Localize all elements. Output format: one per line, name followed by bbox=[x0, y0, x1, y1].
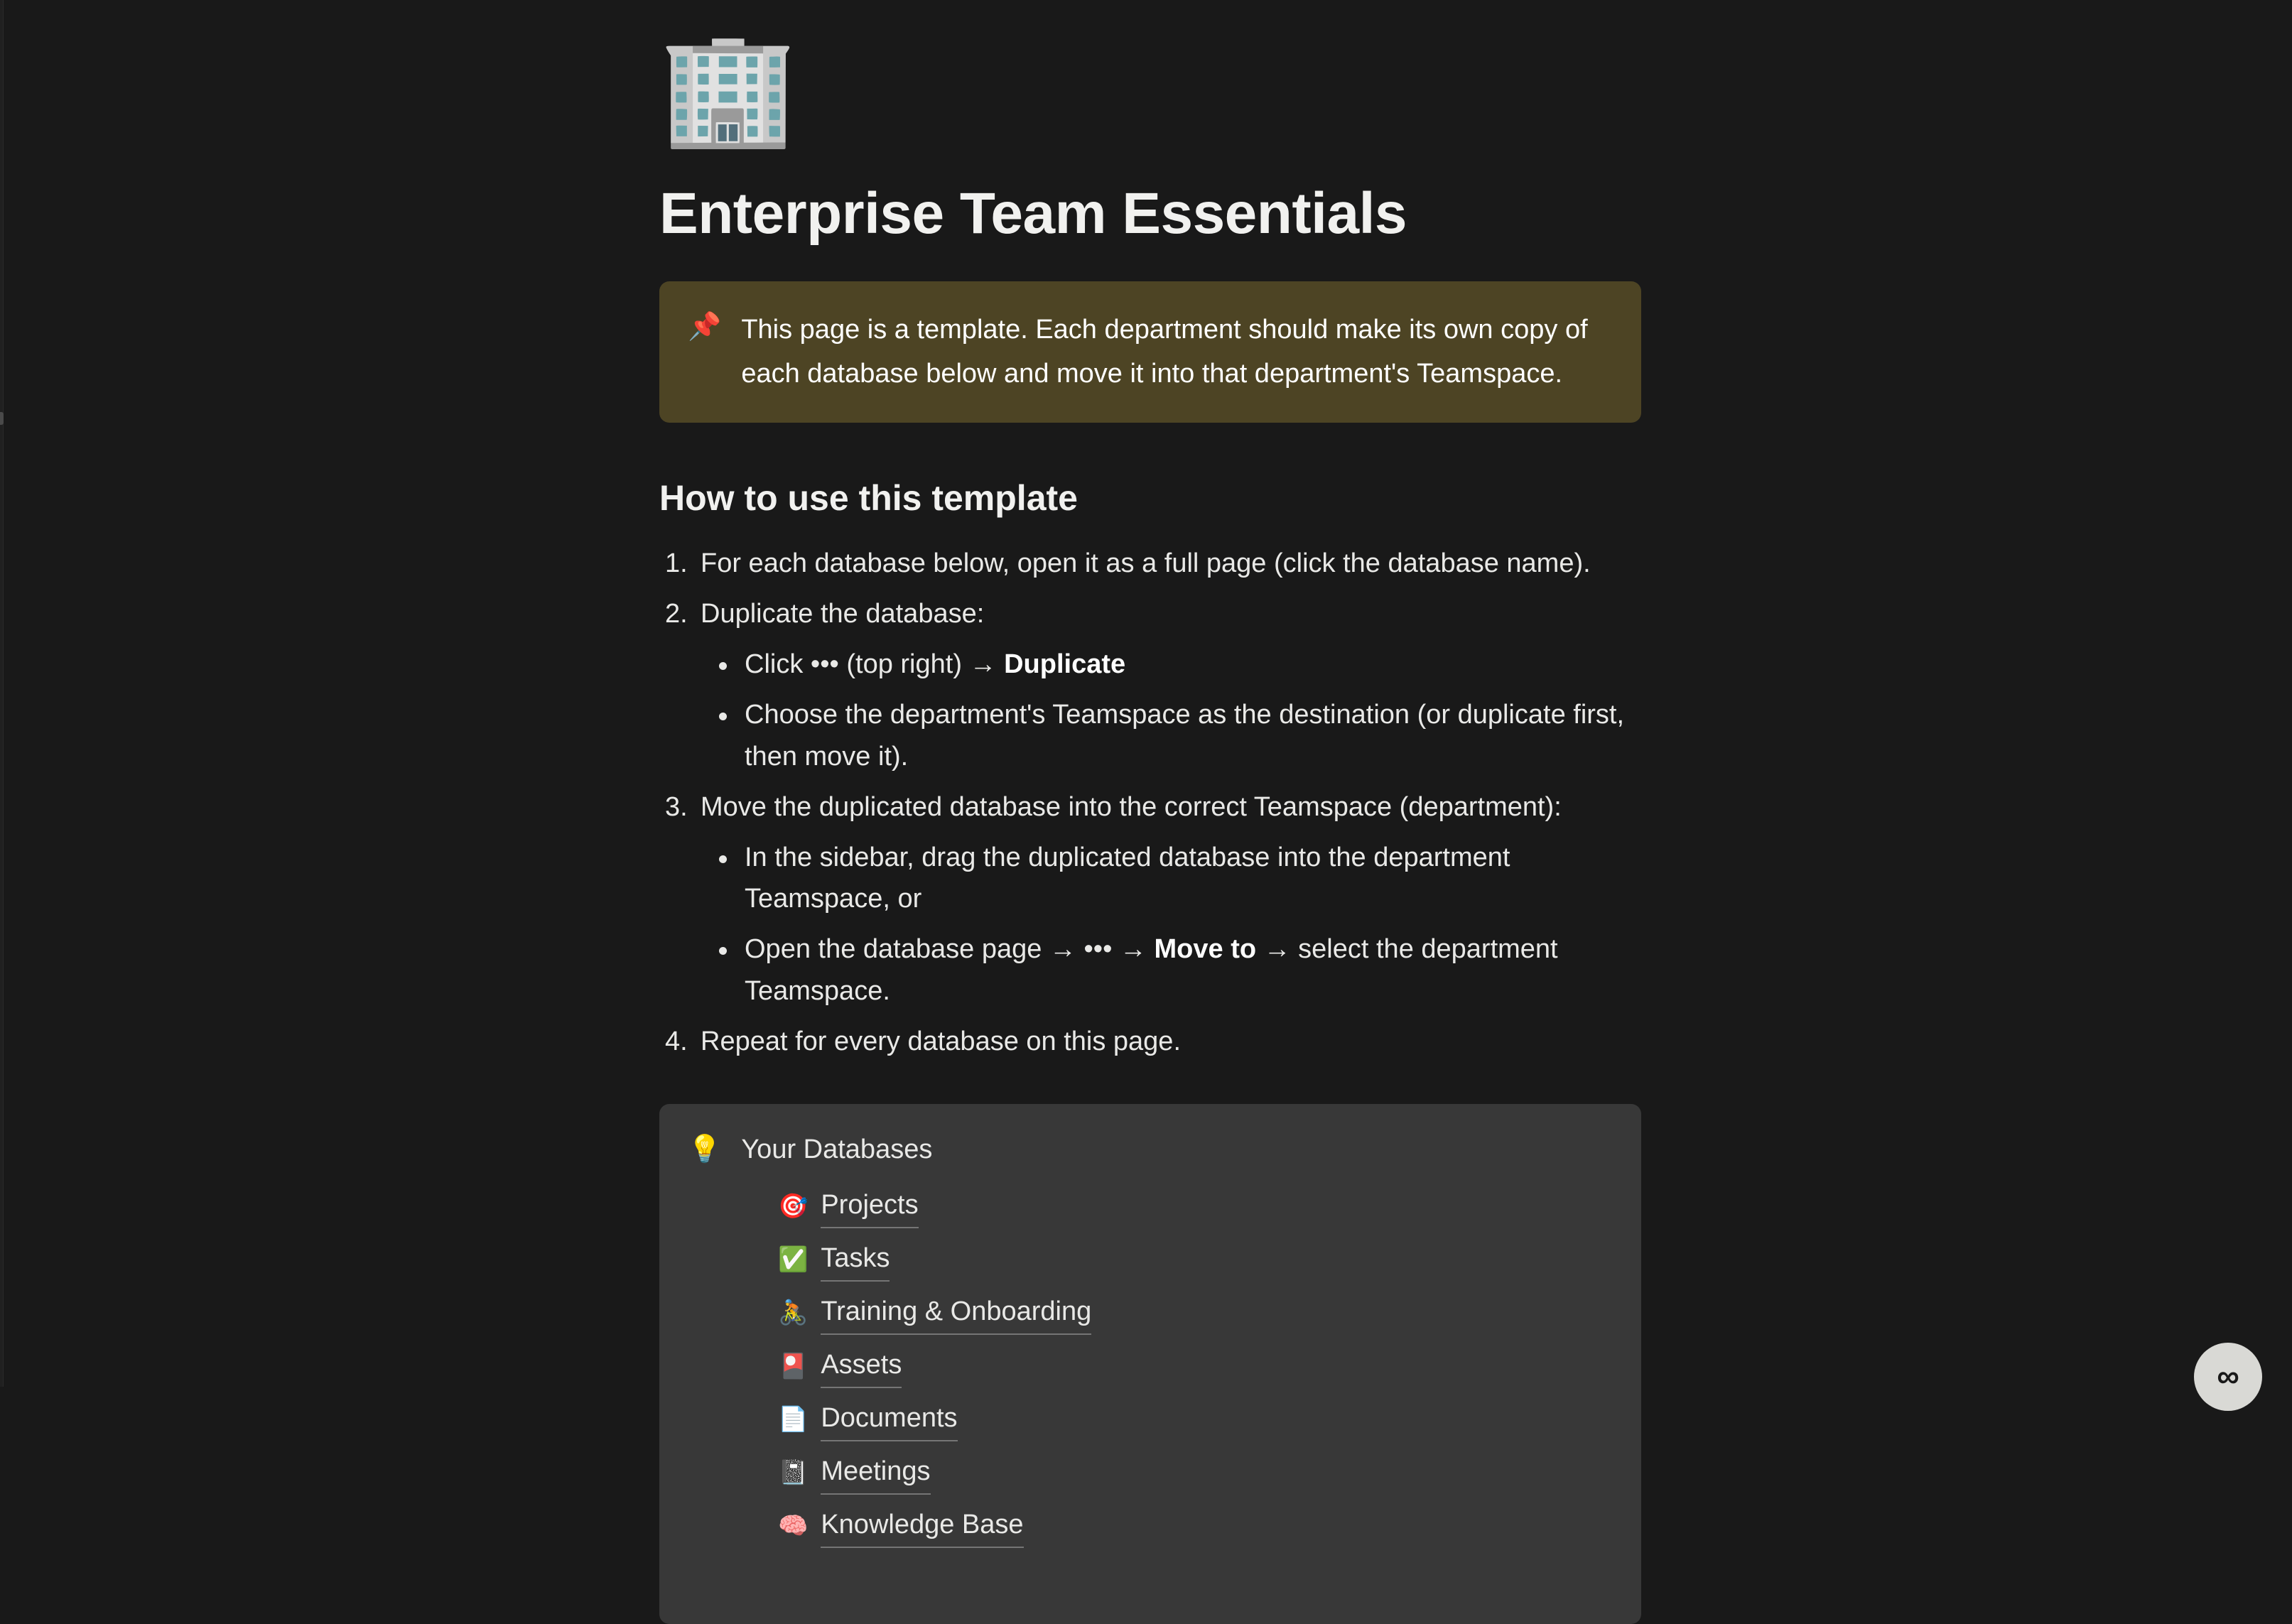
page-content: 🏢 Enterprise Team Essentials 📌 This page… bbox=[659, 0, 1641, 1624]
your-databases-title: Your Databases bbox=[741, 1130, 1613, 1170]
flower-playing-cards-emoji: 🎴 bbox=[778, 1354, 806, 1378]
page-title[interactable]: Enterprise Team Essentials bbox=[659, 183, 1641, 244]
sidebar-resize-handle[interactable] bbox=[0, 412, 4, 425]
substep-text: Open the database page → ••• → Move to →… bbox=[745, 924, 1641, 1017]
substep-pre: In the sidebar, drag the duplicated data… bbox=[745, 843, 1510, 914]
template-notice-text: This page is a template. Each department… bbox=[741, 307, 1613, 396]
substep-pre: Click ••• (top right) → bbox=[745, 649, 1004, 679]
substep-bold: Move to bbox=[1155, 934, 1257, 964]
step-text: Move the duplicated database into the co… bbox=[701, 782, 1641, 833]
office-building-emoji[interactable]: 🏢 bbox=[659, 33, 1641, 153]
substeps-list: In the sidebar, drag the duplicated data… bbox=[701, 833, 1641, 1017]
ai-assistant-icon[interactable]: ∞ bbox=[2194, 1343, 2262, 1411]
step-item-2: Duplicate the database: Click ••• (top r… bbox=[659, 589, 1641, 782]
brain-emoji: 🧠 bbox=[778, 1514, 806, 1538]
substep-pre: Choose the department's Teamspace as the… bbox=[745, 700, 1624, 772]
database-link-label[interactable]: Assets bbox=[821, 1345, 902, 1388]
database-link-label[interactable]: Documents bbox=[821, 1398, 957, 1441]
substep-item: Open the database page → ••• → Move to →… bbox=[701, 924, 1641, 1017]
notebook-emoji: 📓 bbox=[778, 1461, 806, 1485]
database-link-knowledge-base[interactable]: 🧠 Knowledge Base bbox=[741, 1500, 1613, 1553]
database-link-label[interactable]: Tasks bbox=[821, 1238, 890, 1282]
database-link-label[interactable]: Training & Onboarding bbox=[821, 1292, 1091, 1335]
template-notice-callout: 📌 This page is a template. Each departme… bbox=[659, 281, 1641, 423]
database-links-list: 🎯 Projects ✅ Tasks 🚴 Training & Onboardi… bbox=[741, 1180, 1613, 1553]
check-mark-button-emoji: ✅ bbox=[778, 1247, 806, 1272]
substep-item: In the sidebar, drag the duplicated data… bbox=[701, 833, 1641, 925]
substep-item: Click ••• (top right) → Duplicate bbox=[701, 639, 1641, 690]
substep-text: Choose the department's Teamspace as the… bbox=[745, 690, 1641, 782]
database-link-training-onboarding[interactable]: 🚴 Training & Onboarding bbox=[741, 1287, 1613, 1340]
step-text: Repeat for every database on this page. bbox=[701, 1017, 1641, 1067]
database-link-label[interactable]: Meetings bbox=[821, 1451, 930, 1495]
step-item-1: For each database below, open it as a fu… bbox=[659, 538, 1641, 589]
direct-hit-emoji: 🎯 bbox=[778, 1194, 806, 1218]
step-text: Duplicate the database: bbox=[701, 589, 1641, 639]
page-facing-up-emoji: 📄 bbox=[778, 1407, 806, 1431]
database-link-documents[interactable]: 📄 Documents bbox=[741, 1393, 1613, 1446]
substep-pre: Open the database page → ••• → bbox=[745, 934, 1155, 964]
step-item-3: Move the duplicated database into the co… bbox=[659, 782, 1641, 1017]
database-link-projects[interactable]: 🎯 Projects bbox=[741, 1180, 1613, 1233]
database-link-assets[interactable]: 🎴 Assets bbox=[741, 1340, 1613, 1393]
substep-text: Click ••• (top right) → Duplicate bbox=[745, 639, 1641, 690]
light-bulb-emoji: 💡 bbox=[688, 1130, 721, 1170]
substep-item: Choose the department's Teamspace as the… bbox=[701, 690, 1641, 782]
step-item-4: Repeat for every database on this page. bbox=[659, 1017, 1641, 1067]
collapsed-sidebar-rail[interactable] bbox=[0, 0, 4, 1387]
cyclist-emoji: 🚴 bbox=[778, 1301, 806, 1325]
your-databases-callout: 💡 Your Databases 🎯 Projects ✅ Tasks 🚴 Tr… bbox=[659, 1104, 1641, 1624]
database-link-meetings[interactable]: 📓 Meetings bbox=[741, 1446, 1613, 1500]
substep-text: In the sidebar, drag the duplicated data… bbox=[745, 833, 1641, 925]
how-to-heading: How to use this template bbox=[659, 475, 1641, 521]
substep-bold: Duplicate bbox=[1004, 649, 1125, 679]
database-link-label[interactable]: Projects bbox=[821, 1185, 918, 1228]
database-link-label[interactable]: Knowledge Base bbox=[821, 1505, 1023, 1548]
database-link-tasks[interactable]: ✅ Tasks bbox=[741, 1233, 1613, 1287]
substeps-list: Click ••• (top right) → Duplicate Choose… bbox=[701, 639, 1641, 782]
step-text: For each database below, open it as a fu… bbox=[701, 538, 1641, 589]
pushpin-emoji: 📌 bbox=[688, 307, 721, 347]
how-to-steps-list: For each database below, open it as a fu… bbox=[659, 538, 1641, 1067]
